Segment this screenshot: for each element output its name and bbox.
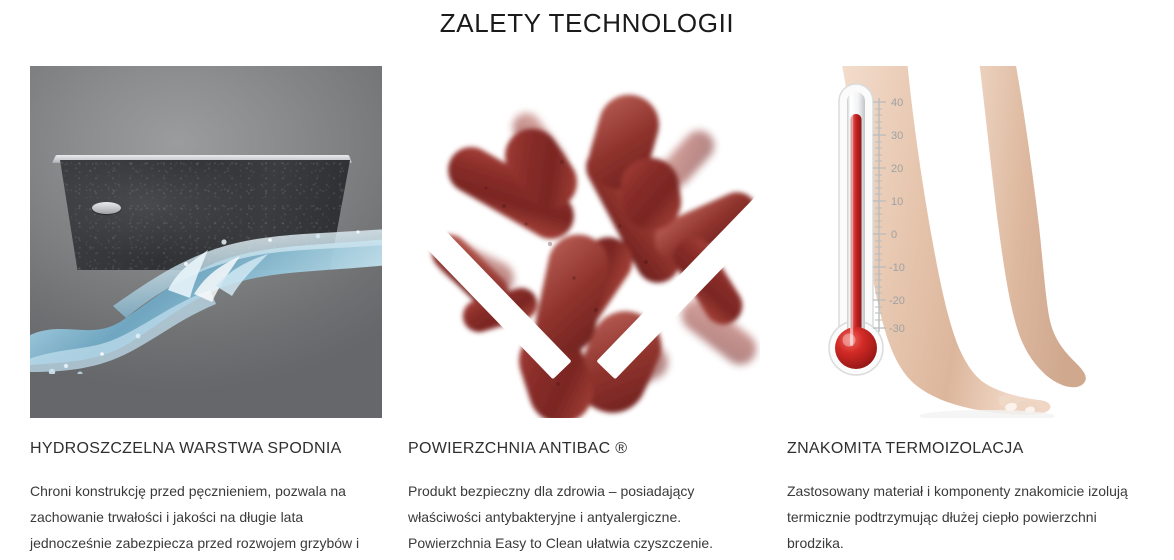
benefit-body-hydroszczelna: Chroni konstrukcję przed pęcznieniem, po…	[30, 478, 380, 560]
thermometer-bare-legs-image: 40 30 20 10 0 -10 -20 -30	[787, 66, 1170, 418]
benefit-body-antibac: Produkt bezpieczny dla zdrowia – posiada…	[408, 478, 758, 556]
benefit-column-antibac: POWIERZCHNIA ANTIBAC ® Produkt bezpieczn…	[408, 66, 763, 556]
benefit-column-termoizolacja: 40 30 20 10 0 -10 -20 -30 ZNAKOMITA TERM…	[787, 66, 1170, 556]
benefit-column-hydroszczelna: HYDROSZCZELNA WARSTWA SPODNIA Chroni kon…	[30, 66, 385, 560]
benefit-heading-termoizolacja: ZNAKOMITA TERMOIZOLACJA	[787, 440, 1170, 458]
benefit-body-termoizolacja: Zastosowany materiał i komponenty znakom…	[787, 478, 1137, 556]
bacteria-crossed-out-image	[408, 66, 760, 418]
technology-benefits-page: ZALETY TECHNOLOGII	[0, 0, 1174, 560]
scale-label-40: 40	[891, 97, 903, 109]
benefits-columns: HYDROSZCZELNA WARSTWA SPODNIA Chroni kon…	[0, 66, 1174, 560]
waterproof-panel-water-splash-image	[30, 66, 382, 418]
scale-label-10: 10	[891, 196, 903, 208]
scale-label-30: 30	[891, 130, 903, 142]
scale-label-m10: -10	[889, 262, 905, 274]
benefit-heading-hydroszczelna: HYDROSZCZELNA WARSTWA SPODNIA	[30, 440, 385, 458]
scale-label-m20: -20	[889, 295, 905, 307]
page-title: ZALETY TECHNOLOGII	[0, 8, 1174, 39]
benefit-heading-antibac: POWIERZCHNIA ANTIBAC ®	[408, 440, 763, 458]
scale-label-m30: -30	[889, 323, 905, 335]
scale-label-20: 20	[891, 163, 903, 175]
water-splash-graphic	[30, 194, 382, 374]
scale-label-0: 0	[891, 229, 897, 241]
